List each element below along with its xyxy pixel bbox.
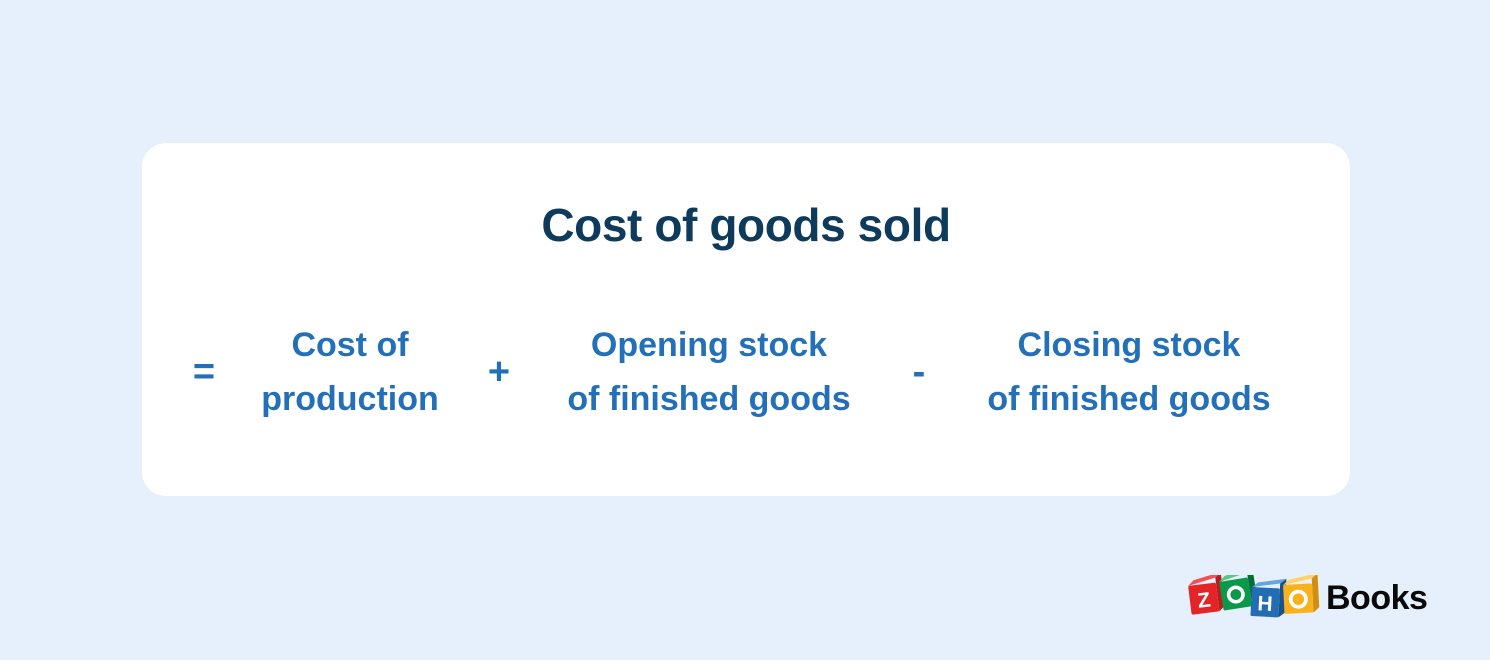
- zoho-logo-icon: Z H: [1186, 575, 1322, 623]
- svg-text:H: H: [1257, 592, 1273, 616]
- zoho-books-logo: Z H: [1186, 575, 1476, 627]
- formula-term-3-line-2: of finished goods: [944, 372, 1314, 426]
- formula-term-cost-of-production: Cost of production: [226, 318, 474, 427]
- operator-minus: -: [894, 353, 944, 391]
- formula-term-closing-stock: Closing stock of finished goods: [944, 318, 1314, 427]
- formula-term-3-line-1: Closing stock: [944, 318, 1314, 372]
- operator-equals: =: [182, 353, 226, 391]
- formula-term-1-line-2: production: [226, 372, 474, 426]
- page-title: Cost of goods sold: [142, 201, 1350, 249]
- operator-plus: +: [474, 353, 524, 391]
- formula-term-2-line-1: Opening stock: [524, 318, 894, 372]
- formula-card: Cost of goods sold = Cost of production …: [142, 143, 1350, 496]
- logo-wordmark: Books: [1326, 578, 1427, 618]
- formula-term-2-line-2: of finished goods: [524, 372, 894, 426]
- formula-term-opening-stock: Opening stock of finished goods: [524, 318, 894, 427]
- formula-term-1-line-1: Cost of: [226, 318, 474, 372]
- infographic-canvas: Cost of goods sold = Cost of production …: [0, 0, 1490, 660]
- formula-equation: = Cost of production + Opening stock of …: [182, 318, 1310, 427]
